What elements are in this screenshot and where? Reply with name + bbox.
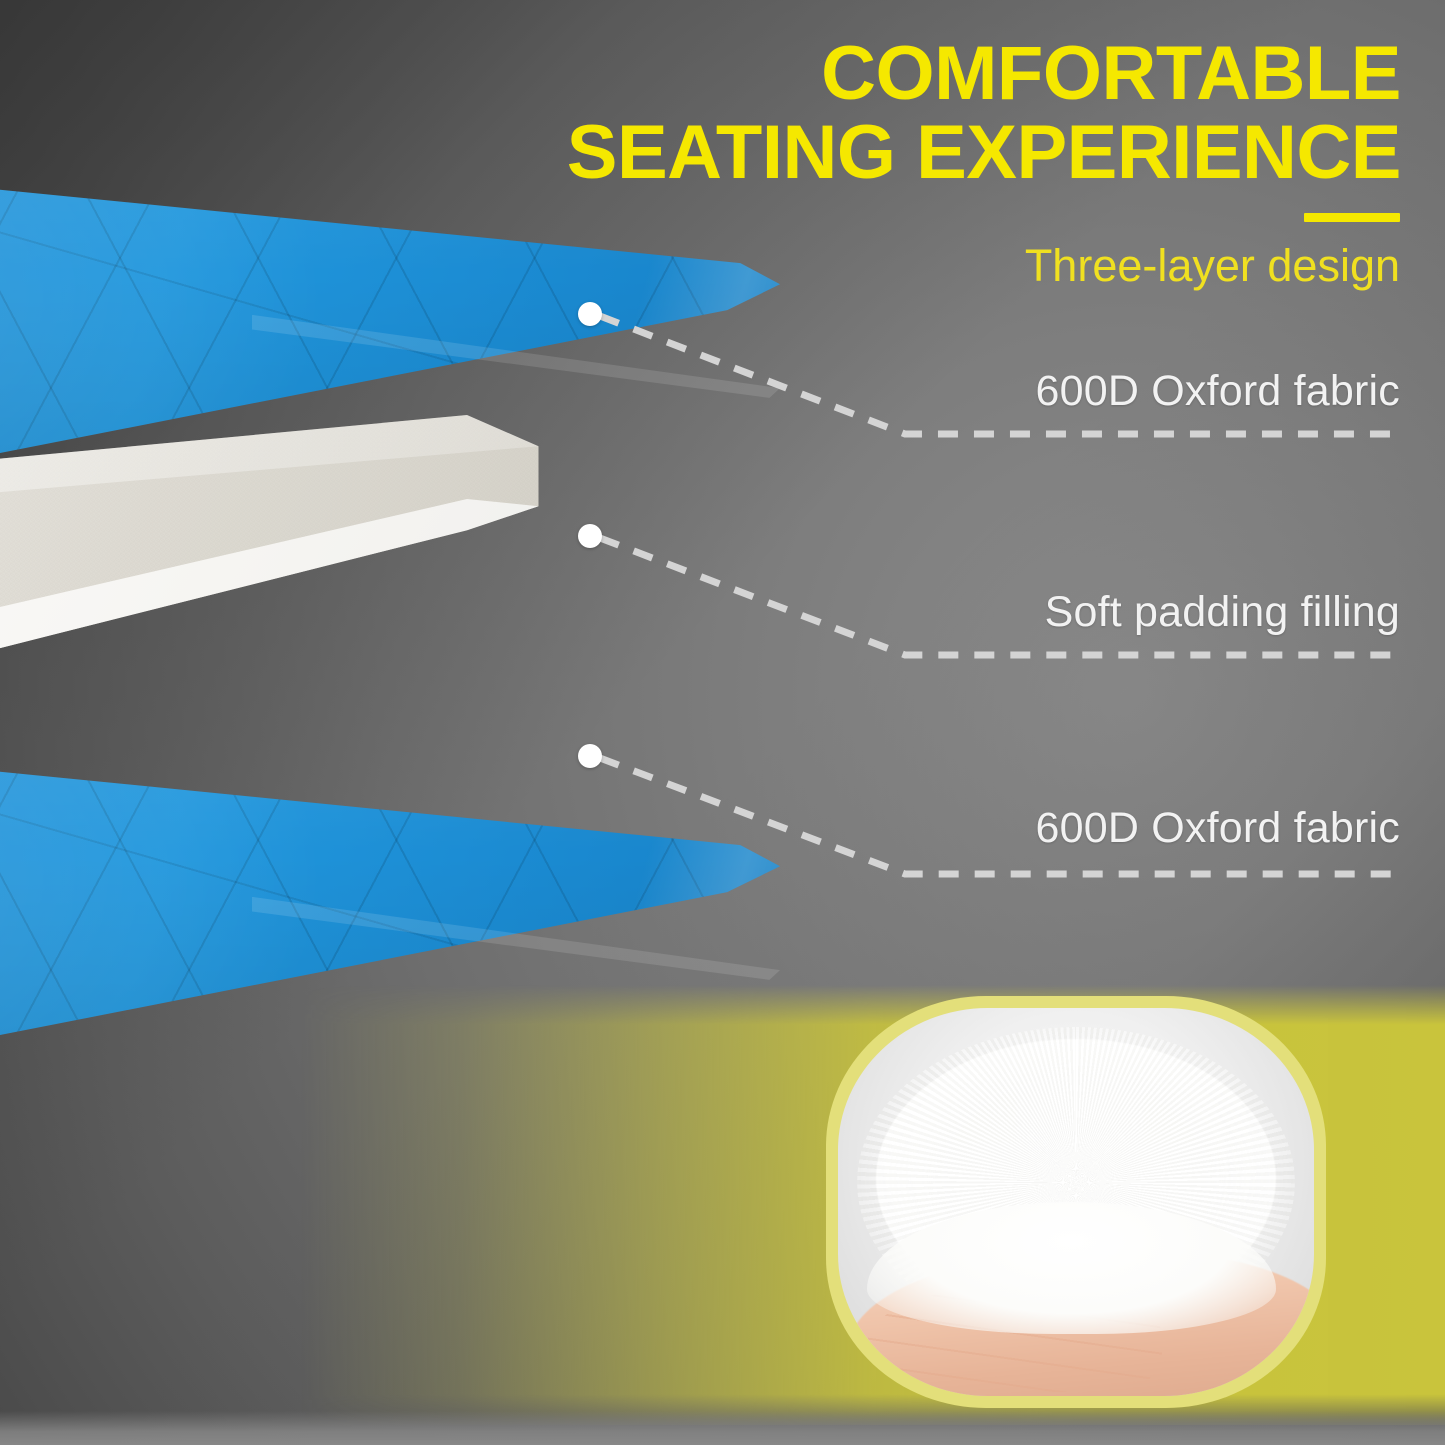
callout-dot-padding — [578, 524, 602, 548]
subtitle: Three-layer design — [1025, 240, 1400, 292]
inset-photo — [838, 1008, 1314, 1396]
spec-label-padding: Soft padding filling — [1045, 588, 1400, 637]
layer-bottom-oxford-fabric — [0, 690, 780, 1160]
headline-line-2: SEATING EXPERIENCE — [541, 113, 1401, 192]
spec-label-top-fabric: 600D Oxford fabric — [1036, 367, 1400, 416]
accent-underline-bar — [1304, 213, 1400, 222]
spec-label-bottom-fabric: 600D Oxford fabric — [1036, 804, 1400, 853]
headline: COMFORTABLE SEATING EXPERIENCE — [541, 34, 1401, 192]
infographic-canvas: COMFORTABLE SEATING EXPERIENCE Three-lay… — [0, 0, 1445, 1445]
bottom-edge-fade — [0, 1411, 1445, 1445]
inset-photo-frame — [826, 996, 1326, 1408]
callout-dot-bottom-fabric — [578, 744, 602, 768]
callout-dot-top-fabric — [578, 302, 602, 326]
headline-line-1: COMFORTABLE — [821, 31, 1401, 116]
